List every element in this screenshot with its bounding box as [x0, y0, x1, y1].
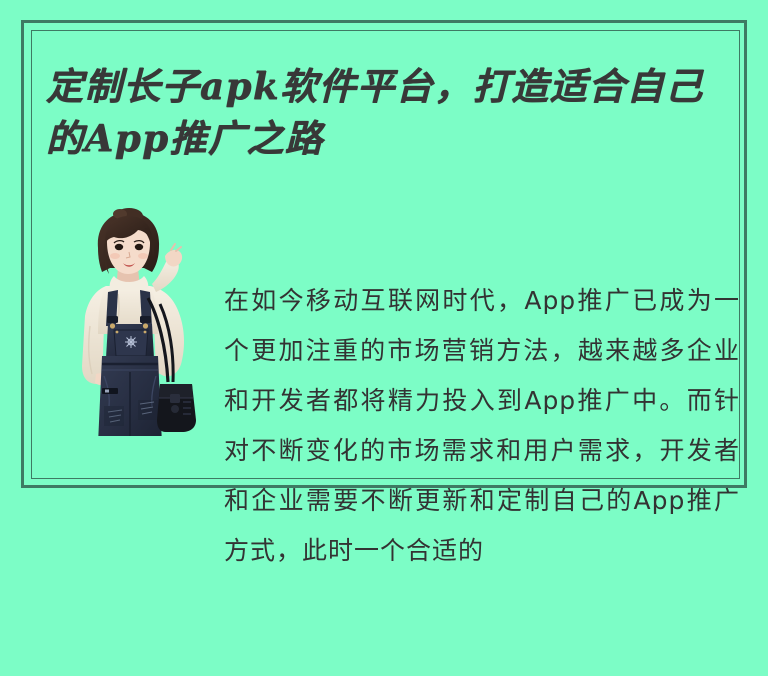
article-paragraph: 在如今移动互联网时代，App推广已成为一个更加注重的市场营销方法，越来越多企业和… — [224, 276, 740, 576]
article-body: 在如今移动互联网时代，App推广已成为一个更加注重的市场营销方法，越来越多企业和… — [224, 176, 740, 676]
young-woman-in-denim-overalls-illustration — [52, 206, 204, 444]
page-title: 定制长子apk软件平台，打造适合自己的App推广之路 — [46, 60, 736, 164]
illustration-figure — [52, 206, 204, 444]
poster-root: 定制长子apk软件平台，打造适合自己的App推广之路 — [0, 0, 768, 510]
